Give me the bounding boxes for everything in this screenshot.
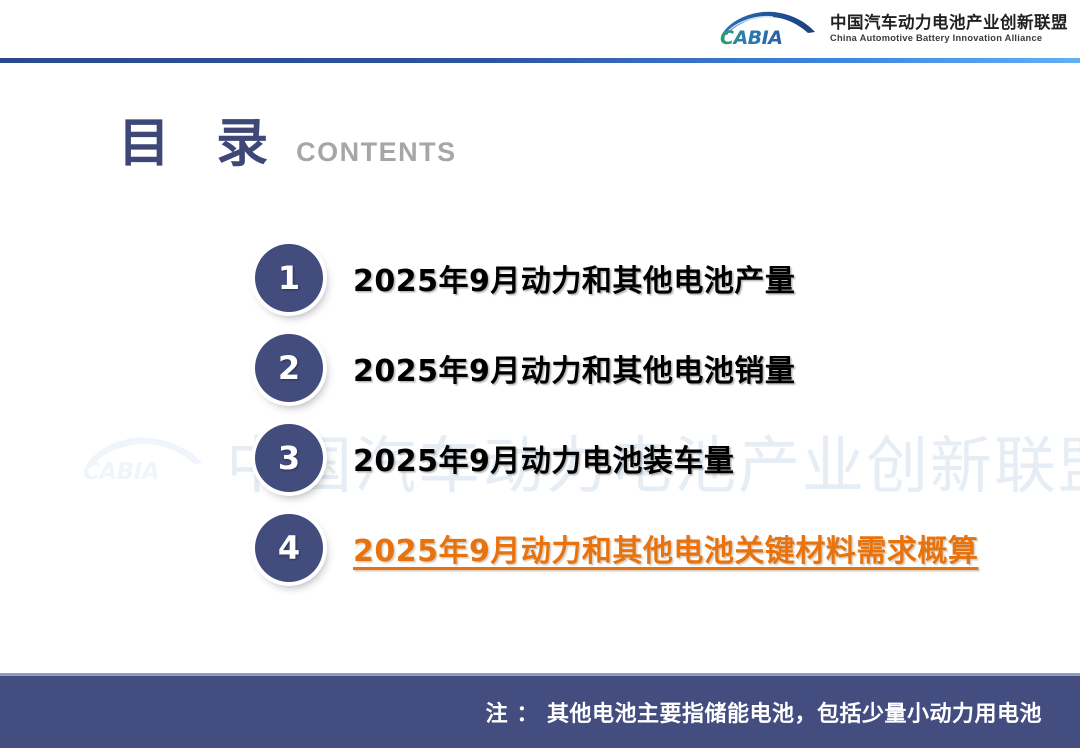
contents-item-4[interactable]: 4 2025年9月动力和其他电池关键材料需求概算 (255, 503, 1055, 593)
slide-header: CABIA 中国汽车动力电池产业创新联盟 China Automotive Ba… (0, 0, 1080, 62)
slide-footer: 注 ： 其他电池主要指储能电池，包括少量小动力用电池 (0, 673, 1080, 748)
page-title: 目 录 CONTENTS (118, 118, 457, 170)
brand-name-cn: 中国汽车动力电池产业创新联盟 (830, 15, 1068, 32)
footer-note-text: 注 ： 其他电池主要指储能电池，包括少量小动力用电池 (486, 696, 1080, 728)
contents-number-badge: 2 (255, 334, 323, 402)
brand-name-en: China Automotive Battery Innovation Alli… (830, 34, 1068, 43)
contents-item-3[interactable]: 3 2025年9月动力电池装车量 (255, 413, 1055, 503)
contents-item-label[interactable]: 2025年9月动力和其他电池产量 (353, 256, 795, 300)
contents-list: 1 2025年9月动力和其他电池产量 2 2025年9月动力和其他电池销量 3 … (255, 233, 1055, 593)
contents-number-badge: 1 (255, 244, 323, 312)
contents-number-badge: 3 (255, 424, 323, 492)
brand-lockup: CABIA 中国汽车动力电池产业创新联盟 China Automotive Ba… (716, 8, 1068, 50)
contents-number-badge: 4 (255, 514, 323, 582)
slide-canvas: CABIA 中国汽车动力电池产业创新联盟 China Automotive Ba… (0, 0, 1080, 748)
page-title-cn: 目 录 (118, 118, 282, 170)
svg-text:CABIA: CABIA (83, 459, 159, 485)
contents-item-2[interactable]: 2 2025年9月动力和其他电池销量 (255, 323, 1055, 413)
brand-name-block: 中国汽车动力电池产业创新联盟 China Automotive Battery … (830, 15, 1068, 44)
svg-text:CABIA: CABIA (720, 27, 782, 49)
page-title-en: CONTENTS (296, 139, 457, 166)
watermark-cabia-logo-icon: CABIA (78, 432, 208, 488)
cabia-car-logo-icon: CABIA (716, 8, 820, 50)
header-divider-rule (0, 58, 1080, 63)
contents-item-label[interactable]: 2025年9月动力和其他电池销量 (353, 346, 795, 390)
contents-item-label[interactable]: 2025年9月动力和其他电池关键材料需求概算 (353, 526, 978, 570)
contents-item-label[interactable]: 2025年9月动力电池装车量 (353, 436, 734, 480)
contents-item-1[interactable]: 1 2025年9月动力和其他电池产量 (255, 233, 1055, 323)
